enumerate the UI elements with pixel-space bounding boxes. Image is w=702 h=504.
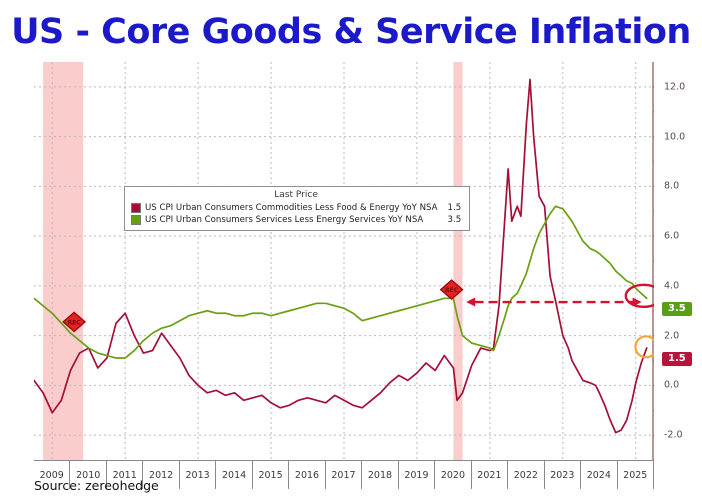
x-axis-tick-2022: 2022 <box>508 461 544 489</box>
x-axis-tick-2015: 2015 <box>253 461 289 489</box>
y-axis-tick-label: 10.0 <box>664 131 685 142</box>
legend-entry-value: 3.5 <box>438 214 462 226</box>
y-axis-tick-label: -2.0 <box>664 430 683 441</box>
y-axis-tick-label: 12.0 <box>664 81 685 92</box>
y-axis-tick-label: 6.0 <box>664 231 679 242</box>
x-axis-tick-label: 2021 <box>472 470 507 481</box>
recession-marker-label: REC <box>445 287 459 294</box>
x-axis-tick-2014: 2014 <box>216 461 252 489</box>
x-axis-tick-2020: 2020 <box>435 461 471 489</box>
x-axis-tick-label: 2025 <box>618 470 653 481</box>
last-price-badge-goods: 1.5 <box>662 352 692 366</box>
recession-band-2008-2009 <box>43 62 83 460</box>
legend-entry-value: 1.5 <box>438 202 462 214</box>
plot-frame: RECREC <box>34 62 654 460</box>
x-axis-tick-label: 2017 <box>326 470 361 481</box>
plot-svg: RECREC <box>34 62 654 460</box>
x-axis-tick-label: 2016 <box>289 470 324 481</box>
services-level-arrow <box>466 298 641 307</box>
x-axis-tick-label: 2020 <box>435 470 470 481</box>
legend-entry: US CPI Urban Consumers Services Less Ene… <box>131 214 461 226</box>
x-axis-tick-2013: 2013 <box>180 461 216 489</box>
x-axis-tick-2016: 2016 <box>289 461 325 489</box>
y-axis-labels: 12.010.08.06.04.02.00.0-2.03.51.5 <box>658 62 702 460</box>
x-axis-tick-2018: 2018 <box>362 461 398 489</box>
arrow-head-left <box>466 298 475 307</box>
chart-legend: Last Price US CPI Urban Consumers Commod… <box>124 186 470 231</box>
x-axis-tick-2017: 2017 <box>326 461 362 489</box>
x-axis-tick-label: 2023 <box>545 470 580 481</box>
x-axis-tick-label: 2022 <box>508 470 543 481</box>
page-title: US - Core Goods & Service Inflation <box>0 12 702 52</box>
y-axis-tick-label: 4.0 <box>664 280 679 291</box>
y-axis-tick-label: 8.0 <box>664 181 679 192</box>
chart-area: RECREC 12.010.08.06.04.02.00.0-2.03.51.5… <box>0 62 702 462</box>
source-note: Source: zereohedge <box>34 478 159 493</box>
x-axis-tick-label: 2024 <box>581 470 616 481</box>
x-axis-tick-label: 2018 <box>362 470 397 481</box>
recession-marker-label: REC <box>68 319 82 326</box>
legend-rows: US CPI Urban Consumers Commodities Less … <box>131 202 461 226</box>
legend-swatch-goods <box>131 203 141 213</box>
x-axis-tick-label: 2013 <box>180 470 215 481</box>
legend-entry-label: US CPI Urban Consumers Services Less Ene… <box>145 214 423 226</box>
series-line-goods <box>34 79 647 432</box>
x-axis-tick-label: 2014 <box>216 470 251 481</box>
legend-title: Last Price <box>131 190 461 200</box>
legend-swatch-services <box>131 215 141 225</box>
x-axis-tick-2024: 2024 <box>581 461 617 489</box>
x-axis-tick-2025: 2025 <box>618 461 654 489</box>
legend-entry: US CPI Urban Consumers Commodities Less … <box>131 202 461 214</box>
x-axis-tick-2019: 2019 <box>399 461 435 489</box>
x-axis-tick-label: 2015 <box>253 470 288 481</box>
x-axis-tick-2021: 2021 <box>472 461 508 489</box>
last-price-badge-services: 3.5 <box>662 302 692 316</box>
x-axis-tick-label: 2019 <box>399 470 434 481</box>
y-axis-tick-label: 2.0 <box>664 330 679 341</box>
x-axis-tick-2023: 2023 <box>545 461 581 489</box>
services-callout-ellipse <box>626 285 654 307</box>
legend-entry-label: US CPI Urban Consumers Commodities Less … <box>145 202 438 214</box>
y-axis-tick-label: 0.0 <box>664 380 679 391</box>
